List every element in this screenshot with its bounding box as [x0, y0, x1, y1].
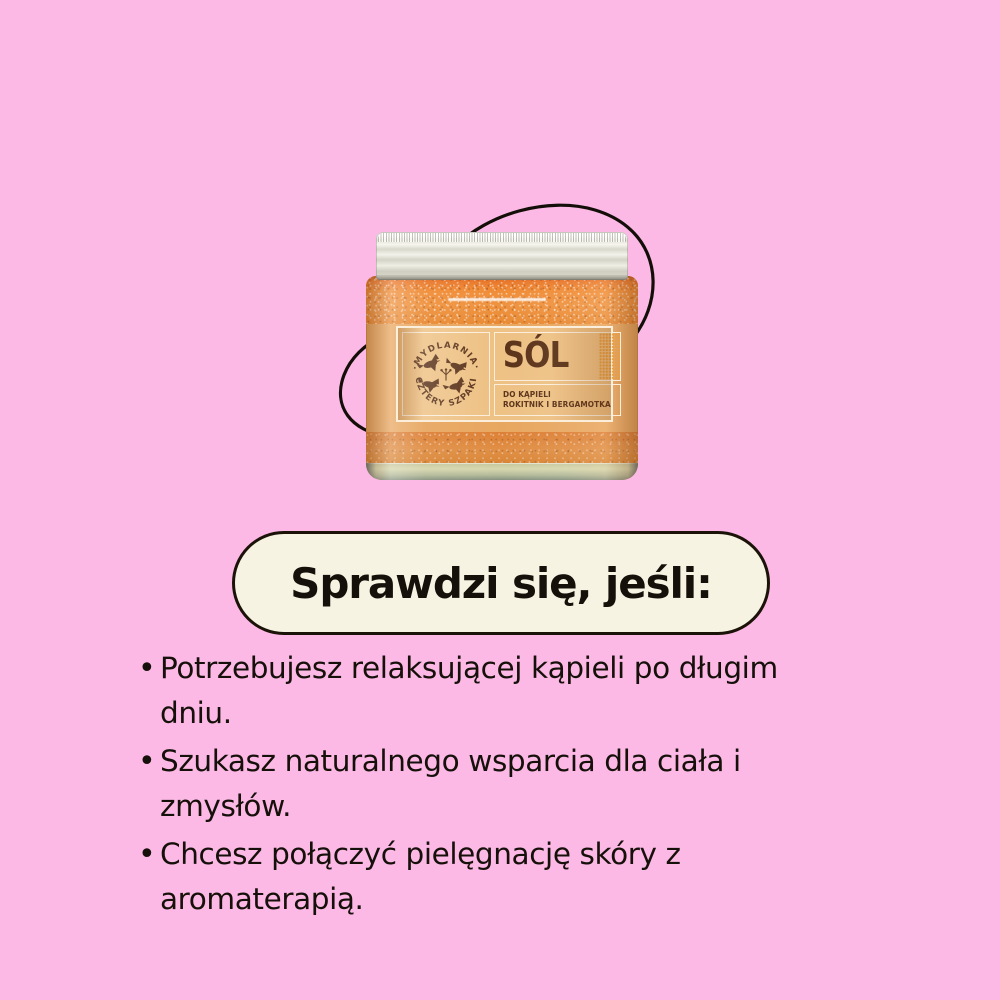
product-label: ·MYDLARNIA· ·CZTERY SZPAKI·	[396, 326, 613, 422]
bullet-marker-icon: •	[134, 832, 160, 877]
label-text-panel: SÓL DO KĄPIELI ROKITNIK I BERGAMOTKA	[494, 332, 621, 416]
salt-granules-top	[366, 276, 638, 324]
bullet-marker-icon: •	[134, 739, 160, 784]
poster-canvas: ·MYDLARNIA· ·CZTERY SZPAKI·	[0, 0, 1000, 1000]
product-title: SÓL	[495, 340, 569, 372]
jar-glass-base	[366, 463, 638, 480]
product-subtitle-box: DO KĄPIELI ROKITNIK I BERGAMOTKA	[494, 384, 621, 416]
list-item-label: Chcesz połączyć pielęgnację skóry z arom…	[160, 832, 830, 922]
halftone-pattern	[599, 333, 620, 380]
list-item-label: Szukasz naturalnego wsparcia dla ciała i…	[160, 739, 830, 829]
product-subtitle-line-2: ROKITNIK I BERGAMOTKA	[503, 401, 611, 410]
list-item-label: Potrzebujesz relaksującej kąpieli po dłu…	[160, 646, 830, 736]
list-item: • Szukasz naturalnego wsparcia dla ciała…	[134, 739, 874, 829]
list-item: • Potrzebujesz relaksującej kąpieli po d…	[134, 646, 874, 736]
page-title: Sprawdzi się, jeśli:	[290, 559, 712, 608]
list-item: • Chcesz połączyć pielęgnację skóry z ar…	[134, 832, 874, 922]
product-subtitle-line-1: DO KĄPIELI	[503, 391, 611, 400]
product-title-box: SÓL	[494, 332, 621, 381]
brand-logo-panel: ·MYDLARNIA· ·CZTERY SZPAKI·	[402, 332, 490, 416]
jar-lid	[376, 232, 628, 280]
heading-pill: Sprawdzi się, jeśli:	[232, 531, 770, 635]
benefits-list: • Potrzebujesz relaksującej kąpieli po d…	[134, 646, 874, 925]
four-starlings-logo-icon: ·MYDLARNIA· ·CZTERY SZPAKI·	[405, 333, 487, 415]
bullet-marker-icon: •	[134, 646, 160, 691]
salt-granules-bottom	[366, 432, 638, 464]
product-image: ·MYDLARNIA· ·CZTERY SZPAKI·	[358, 232, 646, 480]
